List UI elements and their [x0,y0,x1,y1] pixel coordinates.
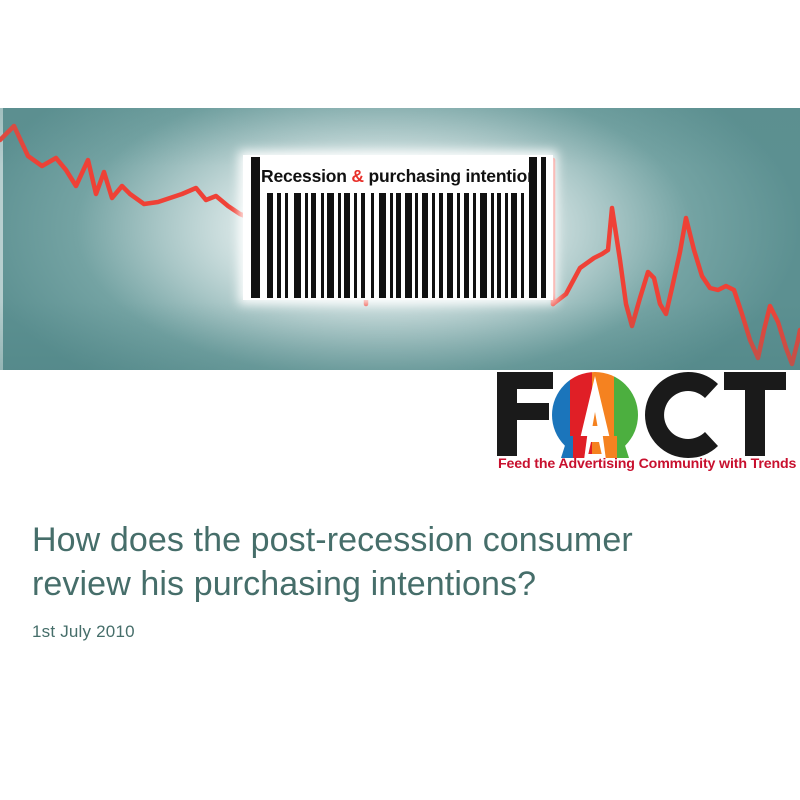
line-series-right [553,208,800,364]
barcode-bars [243,155,553,300]
logo-letter-c [645,372,718,458]
logo-letter-f [497,372,553,456]
page-title: How does the post-recession consumerrevi… [32,518,762,606]
fact-wordmark [492,368,792,458]
slide-date: 1st July 2010 [32,622,762,642]
logo-letter-t [724,372,786,456]
page-title-line-2: review his purchasing intentions? [32,565,536,603]
fact-logo: Feed the Advertising Community with Tren… [492,368,792,480]
slide-root: Recession & purchasing intention [0,0,800,800]
fact-tagline: Feed the Advertising Community with Tren… [498,456,792,472]
page-title-line-1: How does the post-recession consumer [32,521,633,559]
barcode-panel: Recession & purchasing intention [243,155,553,300]
title-block: How does the post-recession consumerrevi… [32,518,762,642]
logo-letter-a [550,368,642,458]
